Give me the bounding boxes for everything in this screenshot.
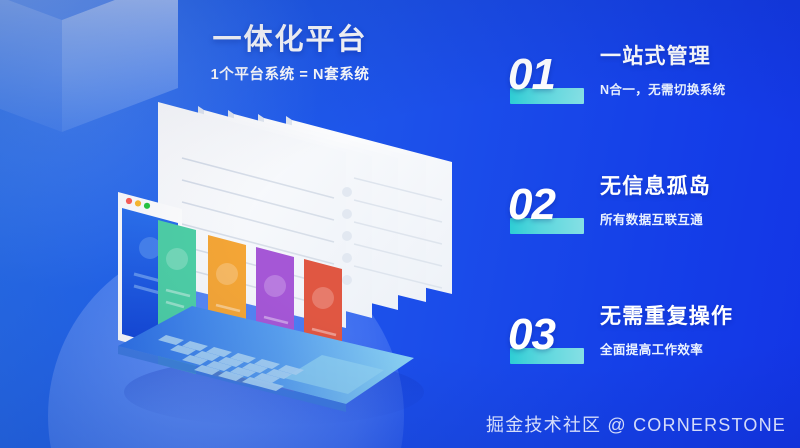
feature-text-01: 一站式管理 N合一，无需切换系统 bbox=[600, 42, 796, 99]
feature-number-02: 02 bbox=[508, 178, 586, 232]
feature-text-02: 无信息孤岛 所有数据互联互通 bbox=[600, 172, 796, 229]
feature-text-03: 无需重复操作 全面提高工作效率 bbox=[600, 302, 796, 359]
feature-title-03: 无需重复操作 bbox=[600, 302, 796, 332]
feature-title-01: 一站式管理 bbox=[600, 42, 796, 72]
page-title: 一体化平台 bbox=[120, 22, 460, 58]
illustration bbox=[96, 96, 456, 426]
feature-number-wrap-03: 03 bbox=[508, 308, 586, 370]
feature-number-wrap-01: 01 bbox=[508, 48, 586, 110]
page-subtitle: 1个平台系统 = N套系统 bbox=[120, 65, 460, 85]
feature-subtitle-03: 全面提高工作效率 bbox=[600, 341, 796, 359]
feature-title-02: 无信息孤岛 bbox=[600, 172, 796, 202]
feature-subtitle-01: N合一，无需切换系统 bbox=[600, 81, 796, 99]
poster-canvas: 一体化平台 1个平台系统 = N套系统 bbox=[0, 0, 800, 448]
feature-subtitle-02: 所有数据互联互通 bbox=[600, 211, 796, 229]
headline-block: 一体化平台 1个平台系统 = N套系统 bbox=[120, 22, 460, 85]
feature-number-01: 01 bbox=[508, 48, 586, 102]
feature-number-wrap-02: 02 bbox=[508, 178, 586, 240]
watermark: 掘金技术社区 @ CORNERSTONE bbox=[486, 412, 786, 438]
feature-item-02[interactable]: 02 无信息孤岛 所有数据互联互通 bbox=[508, 172, 794, 292]
feature-item-01[interactable]: 01 一站式管理 N合一，无需切换系统 bbox=[508, 42, 794, 162]
feature-number-03: 03 bbox=[508, 308, 586, 362]
feature-item-03[interactable]: 03 无需重复操作 全面提高工作效率 bbox=[508, 302, 794, 422]
feature-list: 01 一站式管理 N合一，无需切换系统 02 无信息孤岛 所有数据互联互通 03 bbox=[508, 42, 794, 422]
